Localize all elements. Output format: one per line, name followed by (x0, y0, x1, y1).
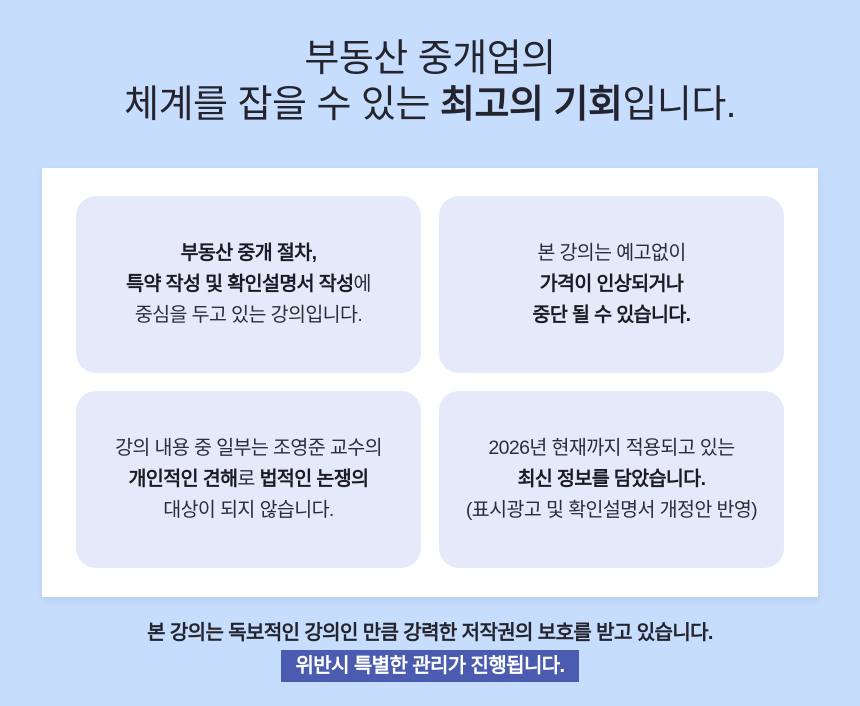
copyright-notice: 본 강의는 독보적인 강의인 만큼 강력한 저작권의 보호를 받고 있습니다. … (0, 618, 860, 682)
headline-line-1: 부동산 중개업의 (0, 36, 860, 82)
promo-poster: 부동산 중개업의 체계를 잡을 수 있는 최고의 기회입니다. 부동산 중개 절… (0, 0, 860, 706)
card1-line-1-strong: 부동산 중개 절차, (181, 242, 317, 264)
card2-line-3-strong: 중단 될 수 있습니다. (533, 304, 691, 326)
card3-line-2-mid: 로 (237, 468, 259, 490)
headline-line-2-prefix: 체계를 잡을 수 있는 (124, 84, 440, 126)
info-card-grid: 부동산 중개 절차, 특약 작성 및 확인설명서 작성에 중심을 두고 있는 강… (76, 196, 784, 568)
headline-line-2: 체계를 잡을 수 있는 최고의 기회입니다. (0, 82, 860, 128)
card3-line-2-strong-b: 법적인 논쟁의 (260, 468, 369, 490)
info-card-opinion-disclaimer: 강의 내용 중 일부는 조영준 교수의 개인적인 견해로 법적인 논쟁의 대상이… (76, 391, 421, 568)
violation-warning-wrap: 위반시 특별한 관리가 진행됩니다. (0, 650, 860, 682)
card3-line-1: 강의 내용 중 일부는 조영준 교수의 (115, 433, 382, 464)
card1-line-2-suffix: 에 (354, 273, 371, 295)
card4-line-2: 최신 정보를 담았습니다. (466, 464, 757, 495)
card2-line-1: 본 강의는 예고없이 (533, 238, 691, 269)
card1-line-3: 중심을 두고 있는 강의입니다. (126, 300, 371, 331)
card4-line-1: 2026년 현재까지 적용되고 있는 (466, 433, 757, 464)
info-card-price-notice: 본 강의는 예고없이 가격이 인상되거나 중단 될 수 있습니다. (439, 196, 784, 373)
card1-line-2-strong: 특약 작성 및 확인설명서 작성 (126, 273, 353, 295)
card3-line-2: 개인적인 견해로 법적인 논쟁의 (115, 464, 382, 495)
info-card-opinion-disclaimer-text: 강의 내용 중 일부는 조영준 교수의 개인적인 견해로 법적인 논쟁의 대상이… (115, 433, 382, 526)
card1-line-1: 부동산 중개 절차, (126, 238, 371, 269)
card4-line-3: (표시광고 및 확인설명서 개정안 반영) (466, 495, 757, 526)
info-card-price-notice-text: 본 강의는 예고없이 가격이 인상되거나 중단 될 수 있습니다. (533, 238, 691, 331)
card2-line-3: 중단 될 수 있습니다. (533, 300, 691, 331)
info-card-latest-info-text: 2026년 현재까지 적용되고 있는 최신 정보를 담았습니다. (표시광고 및… (466, 433, 757, 526)
card4-line-2-strong: 최신 정보를 담았습니다. (518, 468, 706, 490)
info-card-latest-info: 2026년 현재까지 적용되고 있는 최신 정보를 담았습니다. (표시광고 및… (439, 391, 784, 568)
card2-line-2-strong: 가격이 인상되거나 (540, 273, 684, 295)
page-title: 부동산 중개업의 체계를 잡을 수 있는 최고의 기회입니다. (0, 36, 860, 128)
headline-emphasis: 최고의 기회 (440, 84, 622, 126)
headline-line-2-suffix: 입니다. (622, 84, 735, 126)
card3-line-2-strong-a: 개인적인 견해 (129, 468, 238, 490)
info-card-course-focus-text: 부동산 중개 절차, 특약 작성 및 확인설명서 작성에 중심을 두고 있는 강… (126, 238, 371, 331)
info-panel: 부동산 중개 절차, 특약 작성 및 확인설명서 작성에 중심을 두고 있는 강… (42, 168, 818, 597)
info-card-course-focus: 부동산 중개 절차, 특약 작성 및 확인설명서 작성에 중심을 두고 있는 강… (76, 196, 421, 373)
card1-line-2: 특약 작성 및 확인설명서 작성에 (126, 269, 371, 300)
copyright-notice-line-1: 본 강의는 독보적인 강의인 만큼 강력한 저작권의 보호를 받고 있습니다. (0, 618, 860, 648)
card2-line-2: 가격이 인상되거나 (533, 269, 691, 300)
card3-line-3: 대상이 되지 않습니다. (115, 495, 382, 526)
violation-warning-badge: 위반시 특별한 관리가 진행됩니다. (281, 650, 578, 682)
